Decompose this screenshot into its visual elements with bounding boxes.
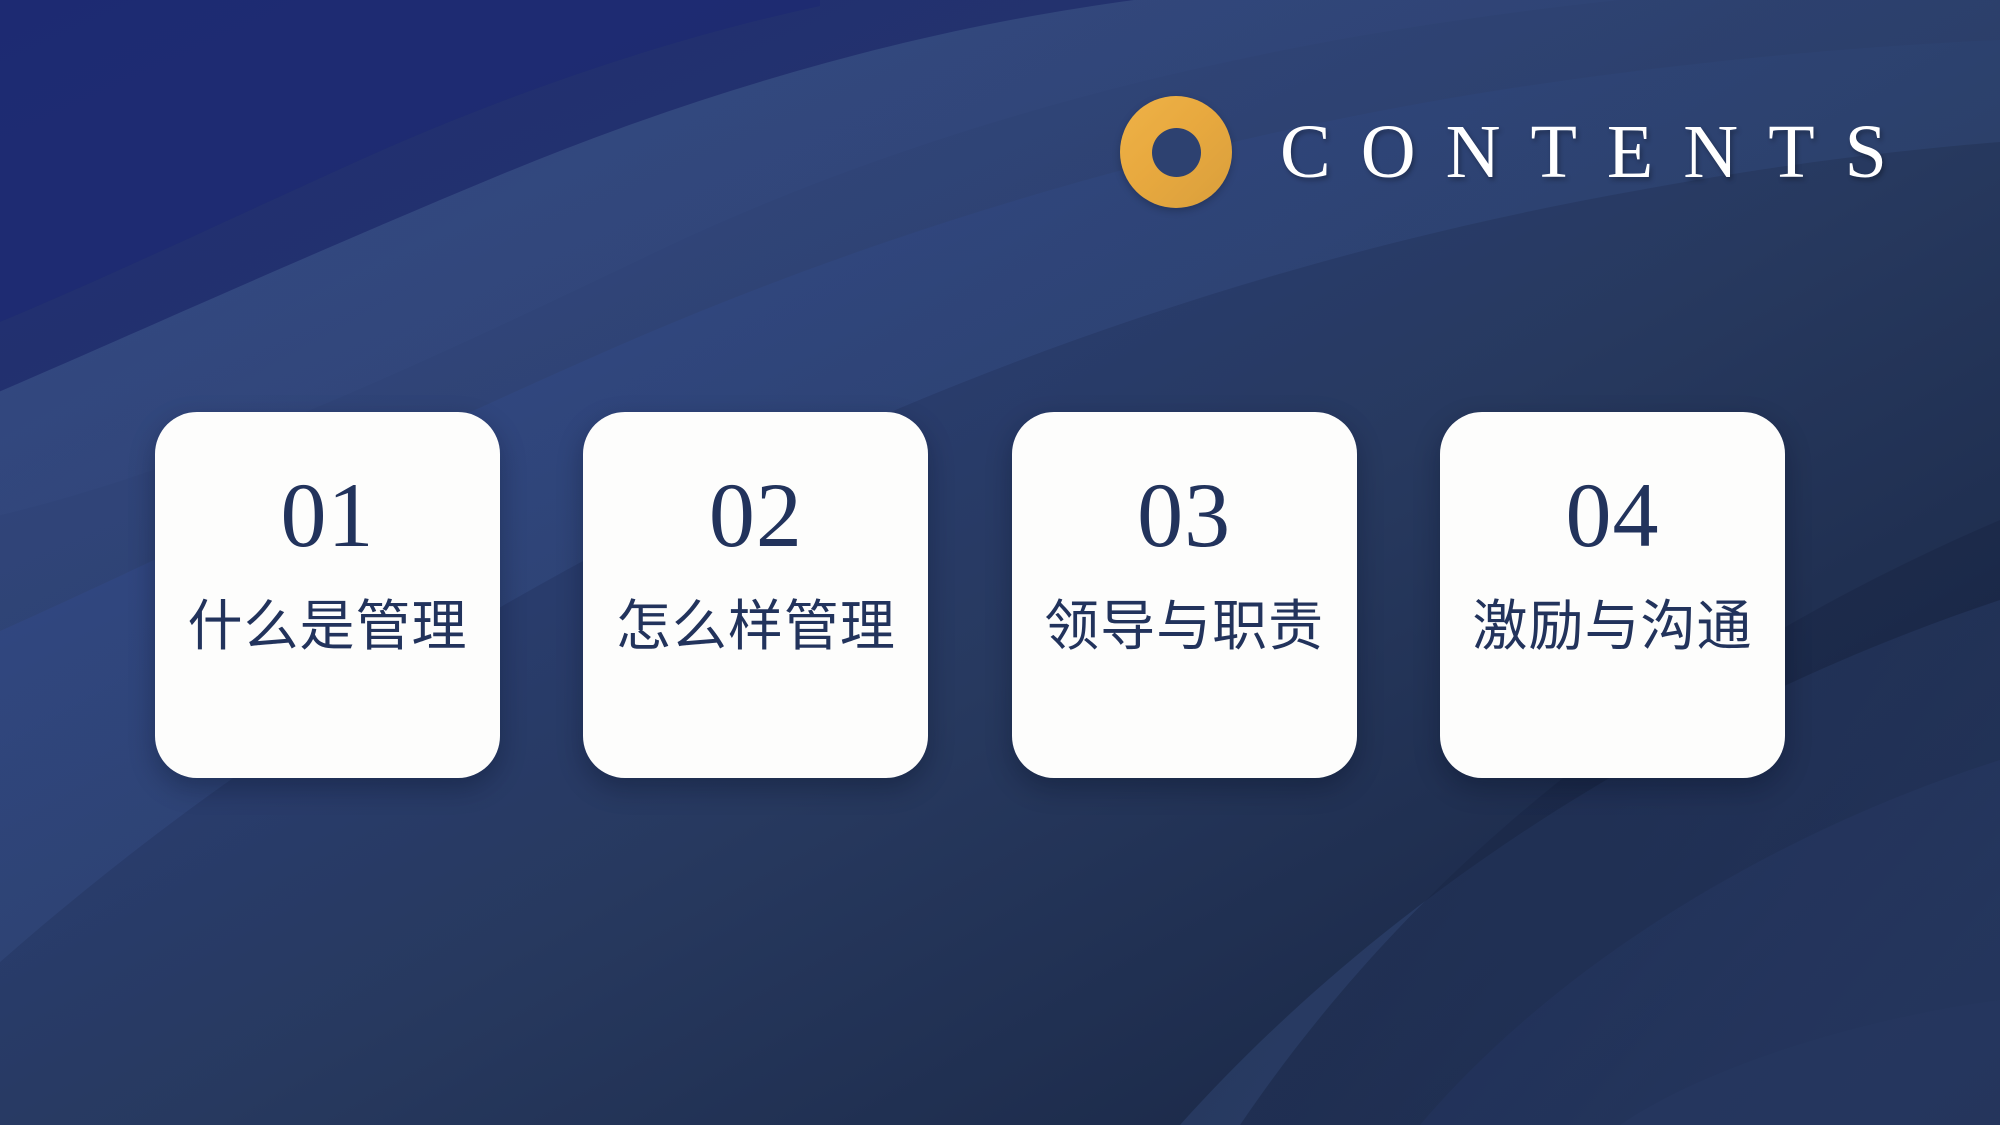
number-wrap: 01 xyxy=(281,460,375,570)
card-label: 怎么样管理 xyxy=(583,597,928,658)
number-wrap: 02 xyxy=(709,460,803,570)
contents-card-row: 01 什么是管理 02 怎么样管理 03 领导与职责 xyxy=(155,412,1785,778)
contents-card-02[interactable]: 02 怎么样管理 xyxy=(583,412,928,778)
presentation-slide: CONTENTS 01 什么是管理 02 怎么样管理 xyxy=(0,0,2000,1125)
slide-header: CONTENTS xyxy=(1120,92,1917,212)
card-number-row: 03 xyxy=(1012,460,1357,570)
card-number: 03 xyxy=(1137,460,1231,570)
number-wrap: 04 xyxy=(1565,460,1659,570)
card-number: 02 xyxy=(709,460,803,570)
gold-ring-icon xyxy=(1120,96,1232,208)
page-title: CONTENTS xyxy=(1280,114,1917,190)
card-number-row: 01 xyxy=(155,460,500,570)
card-number: 04 xyxy=(1565,460,1659,570)
card-number-row: 04 xyxy=(1440,460,1785,570)
card-label: 领导与职责 xyxy=(1012,597,1357,658)
card-label: 激励与沟通 xyxy=(1440,597,1785,658)
number-wrap: 03 xyxy=(1137,460,1231,570)
contents-card-03[interactable]: 03 领导与职责 xyxy=(1012,412,1357,778)
card-label: 什么是管理 xyxy=(155,597,500,658)
card-number: 01 xyxy=(281,460,375,570)
contents-card-01[interactable]: 01 什么是管理 xyxy=(155,412,500,778)
contents-card-04[interactable]: 04 激励与沟通 xyxy=(1440,412,1785,778)
card-number-row: 02 xyxy=(583,460,928,570)
